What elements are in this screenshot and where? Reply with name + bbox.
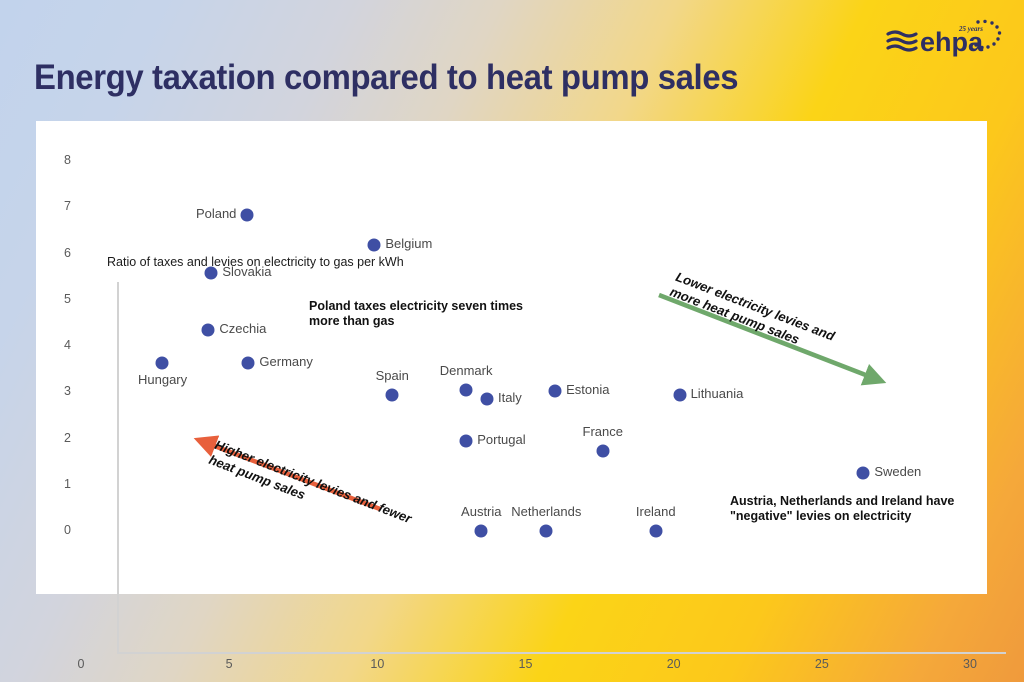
x-tick-0: 0: [66, 657, 96, 671]
x-tick-5: 5: [214, 657, 244, 671]
x-tick-20: 20: [659, 657, 689, 671]
poland-callout: Poland taxes electricity seven times mor…: [309, 299, 523, 330]
negative-levies-callout: Austria, Netherlands and Ireland have "n…: [730, 494, 954, 525]
x-tick-10: 10: [362, 657, 392, 671]
x-tick-25: 25: [807, 657, 837, 671]
logo-anniversary-text: 25 years: [958, 25, 983, 33]
x-tick-15: 15: [511, 657, 541, 671]
page-title: Energy taxation compared to heat pump sa…: [34, 58, 738, 98]
x-axis-line: [117, 652, 1006, 654]
chart-card: Ratio of taxes and levies on electricity…: [36, 121, 987, 594]
x-tick-30: 30: [955, 657, 985, 671]
ehpa-logo: ehpa 25 years: [886, 18, 1006, 64]
